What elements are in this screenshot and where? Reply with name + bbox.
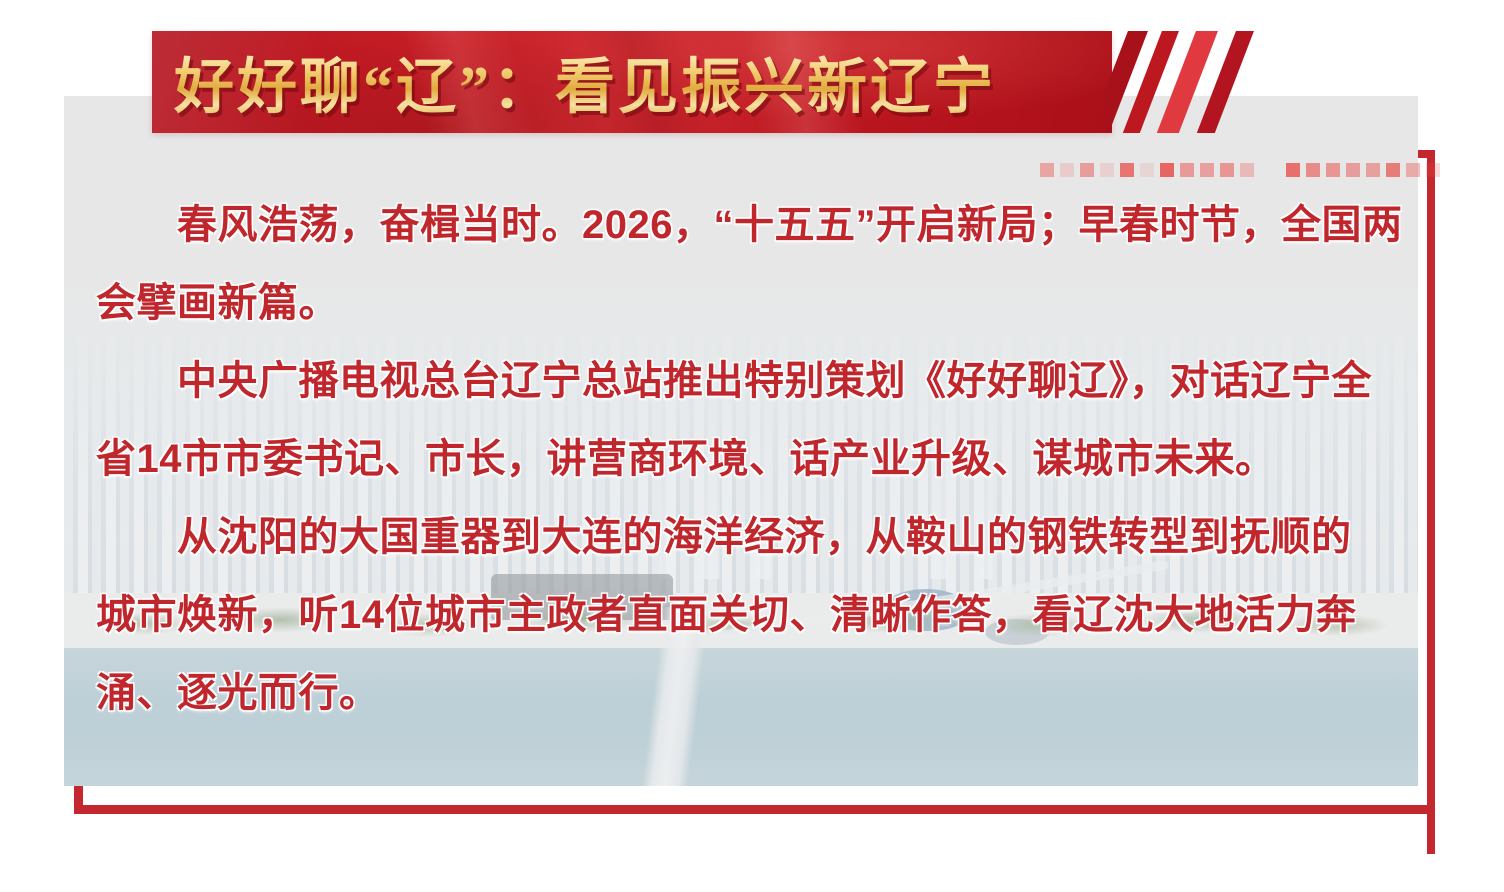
article-line: 会擘画新篇。 <box>96 264 1386 342</box>
decor-dot <box>1180 163 1194 177</box>
banner-title-text: 好好聊“辽”：看见振兴新辽宁 <box>174 39 996 126</box>
decor-dot <box>1426 163 1440 177</box>
decor-dot <box>1346 163 1360 177</box>
decorative-dots-row <box>1040 163 1440 177</box>
decor-dot <box>1286 163 1300 177</box>
article-line: 城市焕新，听14位城市主政者直面关切、清晰作答，看辽沈大地活力奔 <box>96 576 1386 654</box>
frame-bottom-edge <box>74 805 1435 814</box>
decor-dot <box>1040 163 1054 177</box>
decor-dot <box>1406 163 1420 177</box>
decor-dot <box>1060 163 1074 177</box>
decor-dot <box>1306 163 1320 177</box>
banner-diagonal-stripes <box>1104 31 1294 133</box>
decor-dot <box>1240 163 1254 177</box>
decor-dot <box>1220 163 1234 177</box>
article-line: 省14市市委书记、市长，讲营商环境、话产业升级、谋城市未来。 <box>96 420 1386 498</box>
decor-dot <box>1200 163 1214 177</box>
frame-left-corner <box>74 782 83 814</box>
decor-dot <box>1386 163 1400 177</box>
poster-root: 好好聊“辽”：看见振兴新辽宁 春风浩荡，奋楫当时。2026，“十五五”开启新局；… <box>0 0 1504 892</box>
decor-dot <box>1160 163 1174 177</box>
article-line: 从沈阳的大国重器到大连的海洋经济，从鞍山的钢铁转型到抚顺的 <box>96 498 1386 576</box>
decor-dot <box>1366 163 1380 177</box>
decor-dot <box>1140 163 1154 177</box>
decor-dot <box>1080 163 1094 177</box>
article-body: 春风浩荡，奋楫当时。2026，“十五五”开启新局；早春时节，全国两会擘画新篇。 … <box>96 186 1386 732</box>
frame-right-edge <box>1427 150 1435 854</box>
decor-dot <box>1100 163 1114 177</box>
article-line: 涌、逐光而行。 <box>96 654 1386 732</box>
article-line: 春风浩荡，奋楫当时。2026，“十五五”开启新局；早春时节，全国两 <box>96 186 1386 264</box>
dot-gap <box>1260 163 1280 177</box>
decor-dot <box>1120 163 1134 177</box>
article-line: 中央广播电视总台辽宁总站推出特别策划《好好聊辽》，对话辽宁全 <box>96 342 1386 420</box>
title-banner: 好好聊“辽”：看见振兴新辽宁 <box>152 31 1112 133</box>
decor-dot <box>1326 163 1340 177</box>
